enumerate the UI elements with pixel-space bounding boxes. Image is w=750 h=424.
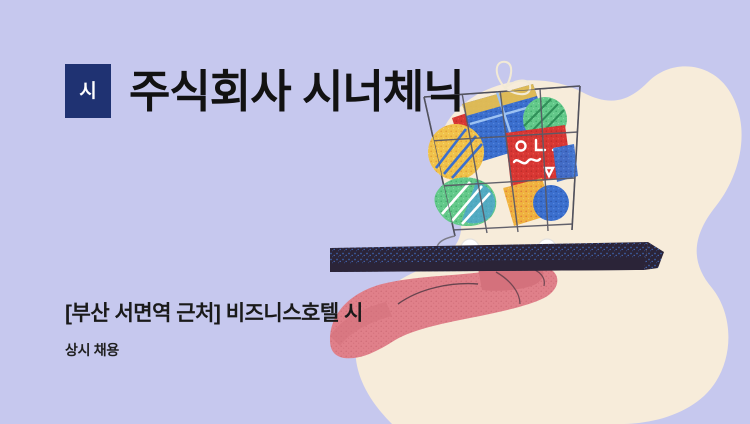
job-posting-banner: 시 주식회사 시너체닉 [부산 서면역 근처] 비즈니스호텔 시 상시 채용 [0,0,750,424]
job-title: [부산 서면역 근처] 비즈니스호텔 시 [65,300,363,327]
posting-headline-block: [부산 서면역 근처] 비즈니스호텔 시 상시 채용 [65,300,363,359]
brand-row: 시 주식회사 시너체닉 [65,64,464,118]
job-subtitle: 상시 채용 [65,341,363,359]
company-logo-badge: 시 [65,64,111,118]
ball-blue [533,185,569,221]
company-name: 주식회사 시너체닉 [129,69,464,114]
